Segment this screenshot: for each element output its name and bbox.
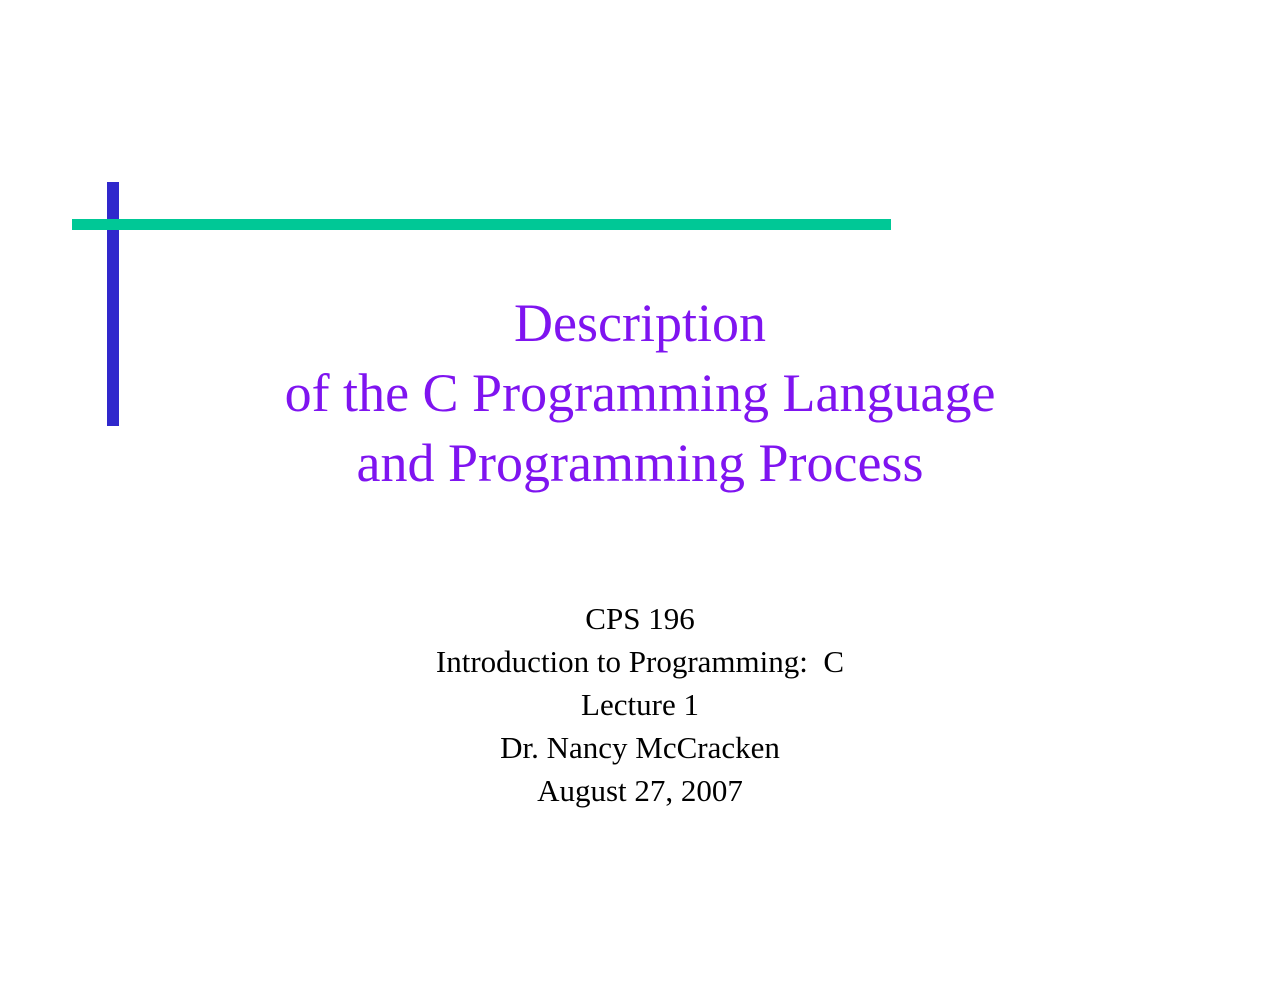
lecture-date: August 27, 2007 [0,769,1280,812]
slide-title: Description of the C Programming Languag… [0,288,1280,498]
slide-subtitle: CPS 196 Introduction to Programming: C L… [0,597,1280,812]
instructor-name: Dr. Nancy McCracken [0,726,1280,769]
lecture-number: Lecture 1 [0,683,1280,726]
slide-canvas: Description of the C Programming Languag… [0,0,1280,989]
decorative-horizontal-bar [72,219,891,230]
course-code: CPS 196 [0,597,1280,640]
slide-title-line-2: of the C Programming Language [0,358,1280,428]
course-name: Introduction to Programming: C [0,640,1280,683]
slide-title-line-1: Description [0,288,1280,358]
slide-title-line-3: and Programming Process [0,428,1280,498]
